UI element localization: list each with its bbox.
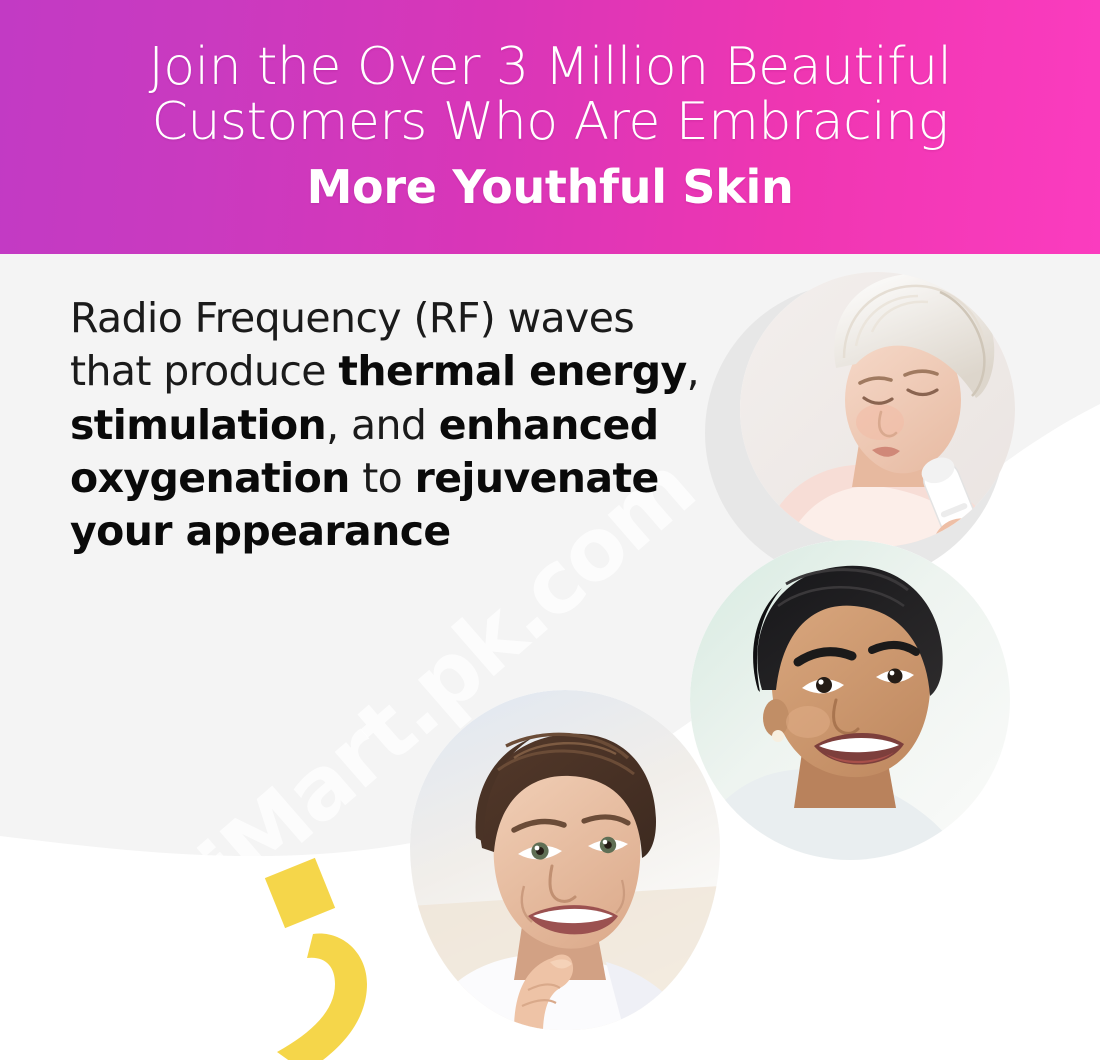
body-text-plain-3: , and <box>326 401 439 449</box>
promo-banner-page: Join the Over 3 Million Beautiful Custom… <box>0 0 1100 1060</box>
body-text-plain-4: to <box>350 454 415 502</box>
photo-1-image <box>740 272 1015 547</box>
watermark-logo-icon <box>255 856 430 1060</box>
photo-3-image <box>410 690 720 1030</box>
banner-headline-line-3: More Youthful Skin <box>307 160 794 214</box>
body-text-bold-stimulation: stimulation <box>70 401 326 449</box>
header-banner: Join the Over 3 Million Beautiful Custom… <box>0 0 1100 254</box>
body-paragraph: Radio Frequency (RF) waves that produce … <box>70 292 710 558</box>
banner-headline-line-2: Customers Who Are Embracing <box>152 95 949 150</box>
body-text-plain-2: , <box>687 347 699 395</box>
banner-headline-line-1: Join the Over 3 Million Beautiful <box>148 40 951 95</box>
photo-woman-hair-towel-rf-device <box>740 272 1015 547</box>
photo-mature-woman-hand-on-chin <box>410 690 720 1030</box>
body-text-bold-thermal-energy: thermal energy <box>338 347 686 395</box>
photo-2-image <box>690 540 1010 860</box>
photo-smiling-woman-dark-hair <box>690 540 1010 860</box>
